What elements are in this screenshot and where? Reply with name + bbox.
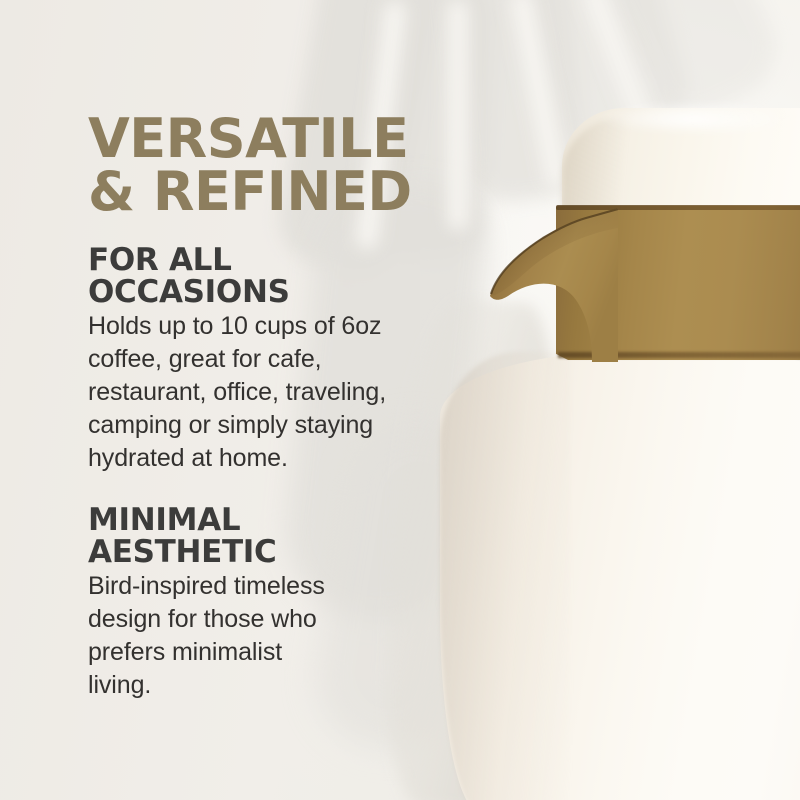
feature-section-aesthetic: MINIMAL AESTHETIC Bird-inspired timeless… — [88, 505, 488, 702]
product-feature-canvas: VERSATILE & REFINED FOR ALL OCCASIONS Ho… — [0, 0, 800, 800]
feature-section-occasions: FOR ALL OCCASIONS Holds up to 10 cups of… — [88, 245, 488, 475]
feature-body-text: Holds up to 10 cups of 6oz coffee, great… — [88, 310, 488, 475]
feature-subhead: MINIMAL AESTHETIC — [88, 505, 488, 568]
feature-body-text: Bird-inspired timeless design for those … — [88, 570, 488, 702]
feature-subhead: FOR ALL OCCASIONS — [88, 245, 488, 308]
page-title: VERSATILE & REFINED — [88, 112, 488, 219]
marketing-copy-block: VERSATILE & REFINED FOR ALL OCCASIONS Ho… — [88, 112, 488, 702]
